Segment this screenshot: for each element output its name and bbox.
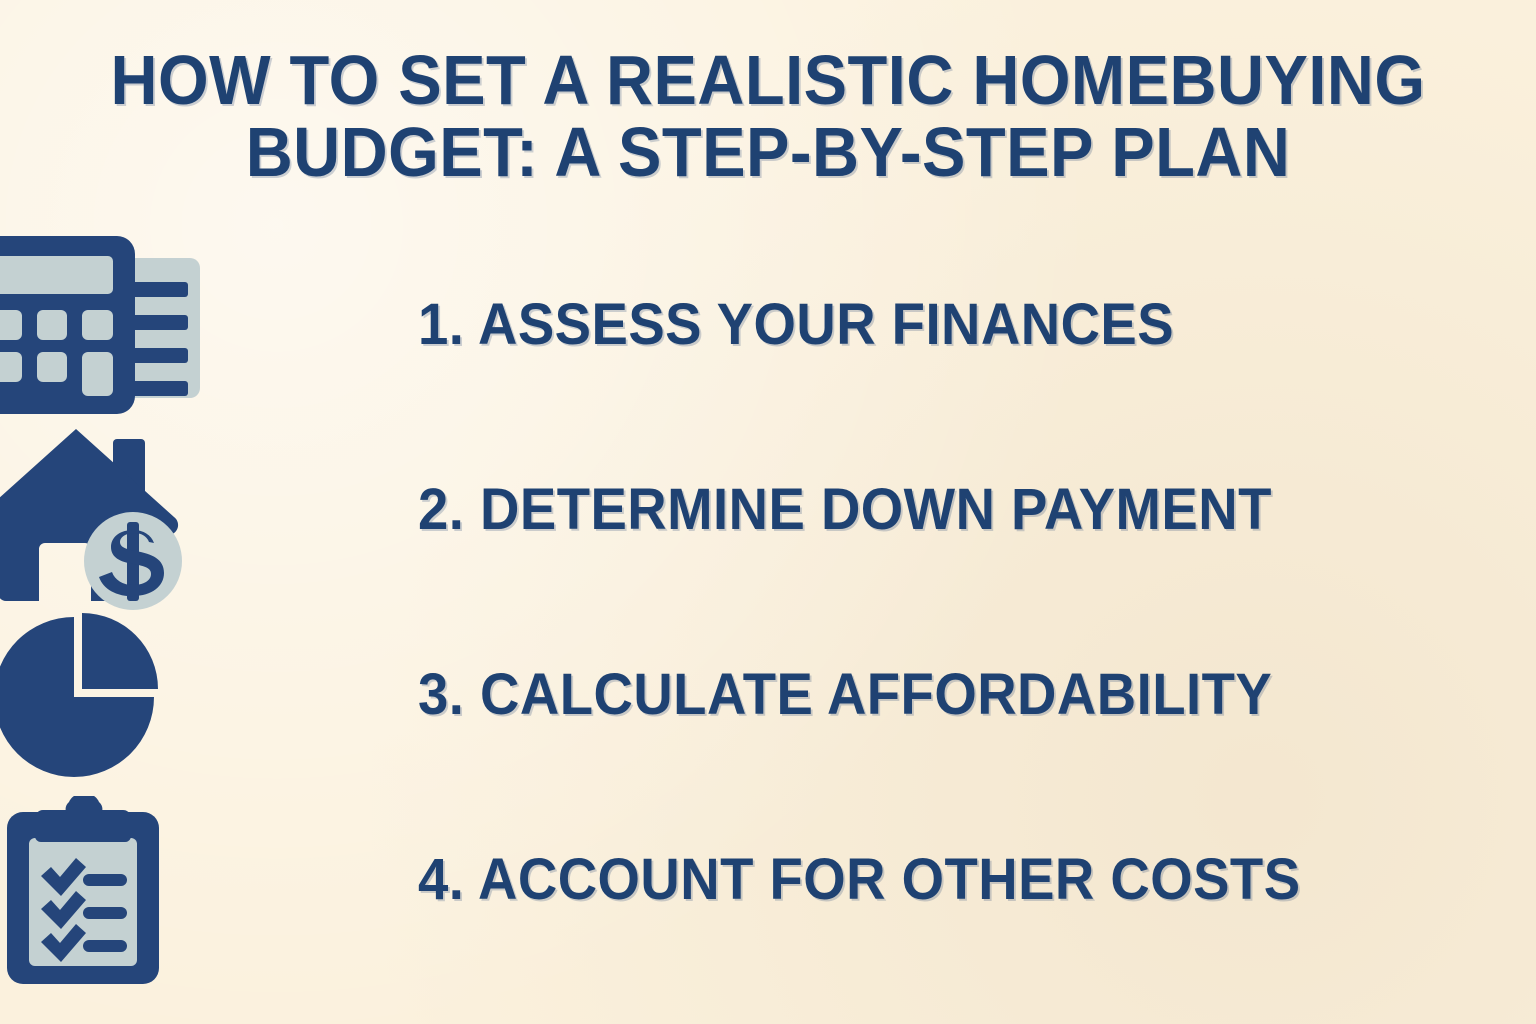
pie-chart-icon <box>0 606 232 791</box>
step-1-label: 1. ASSESS YOUR FINANCES <box>418 295 1174 355</box>
list-item-step-3: 3. CALCULATE AFFORDABILITY <box>0 602 1536 787</box>
title-line-2: BUDGET: A STEP-BY-STEP PLAN <box>54 116 1482 188</box>
list-item-step-4: 4. ACCOUNT FOR OTHER COSTS <box>0 787 1536 972</box>
step-4-label: 4. ACCOUNT FOR OTHER COSTS <box>418 850 1301 910</box>
calculator-icon <box>0 232 237 417</box>
steps-list: 1. ASSESS YOUR FINANCES <box>0 232 1536 972</box>
list-item-step-1: 1. ASSESS YOUR FINANCES <box>0 232 1536 417</box>
step-3-label: 3. CALCULATE AFFORDABILITY <box>418 665 1272 725</box>
step-2-label: 2. DETERMINE DOWN PAYMENT <box>418 480 1272 540</box>
page-title: HOW TO SET A REALISTIC HOMEBUYING BUDGET… <box>0 44 1536 188</box>
clipboard-checklist-icon <box>0 801 237 986</box>
house-dollar-icon <box>0 425 238 610</box>
infographic-poster: HOW TO SET A REALISTIC HOMEBUYING BUDGET… <box>0 0 1536 1024</box>
list-item-step-2: 2. DETERMINE DOWN PAYMENT <box>0 417 1536 602</box>
title-line-1: HOW TO SET A REALISTIC HOMEBUYING <box>54 44 1482 116</box>
